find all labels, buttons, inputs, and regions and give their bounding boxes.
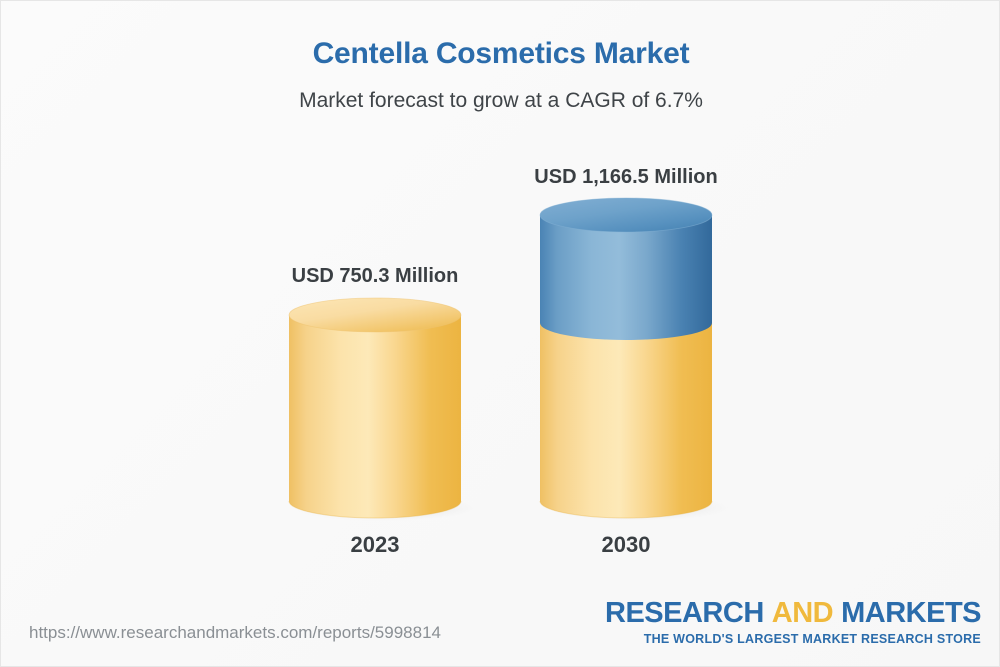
year-label-2030: 2030 bbox=[466, 532, 786, 558]
brand-tagline: THE WORLD'S LARGEST MARKET RESEARCH STOR… bbox=[605, 633, 981, 646]
brand-logo[interactable]: RESEARCHANDMARKETS THE WORLD'S LARGEST M… bbox=[605, 599, 981, 646]
brand-word-markets: MARKETS bbox=[841, 597, 981, 629]
bar-2023 bbox=[281, 297, 477, 523]
bar-2023-graphic bbox=[281, 297, 477, 523]
page-subtitle: Market forecast to grow at a CAGR of 6.7… bbox=[1, 89, 1000, 113]
value-label-2030: USD 1,166.5 Million bbox=[466, 166, 786, 189]
brand-word-research: RESEARCH bbox=[605, 597, 764, 629]
brand-word-and: AND bbox=[772, 597, 833, 629]
chart-canvas: Centella Cosmetics Market Market forecas… bbox=[0, 0, 1000, 667]
brand-logo-title: RESEARCHANDMARKETS bbox=[605, 599, 981, 628]
bar-2030-graphic bbox=[532, 197, 728, 523]
value-label-2023: USD 750.3 Million bbox=[215, 265, 535, 288]
page-title: Centella Cosmetics Market bbox=[1, 37, 1000, 71]
bar-2030 bbox=[532, 197, 728, 523]
report-url[interactable]: https://www.researchandmarkets.com/repor… bbox=[29, 623, 441, 643]
